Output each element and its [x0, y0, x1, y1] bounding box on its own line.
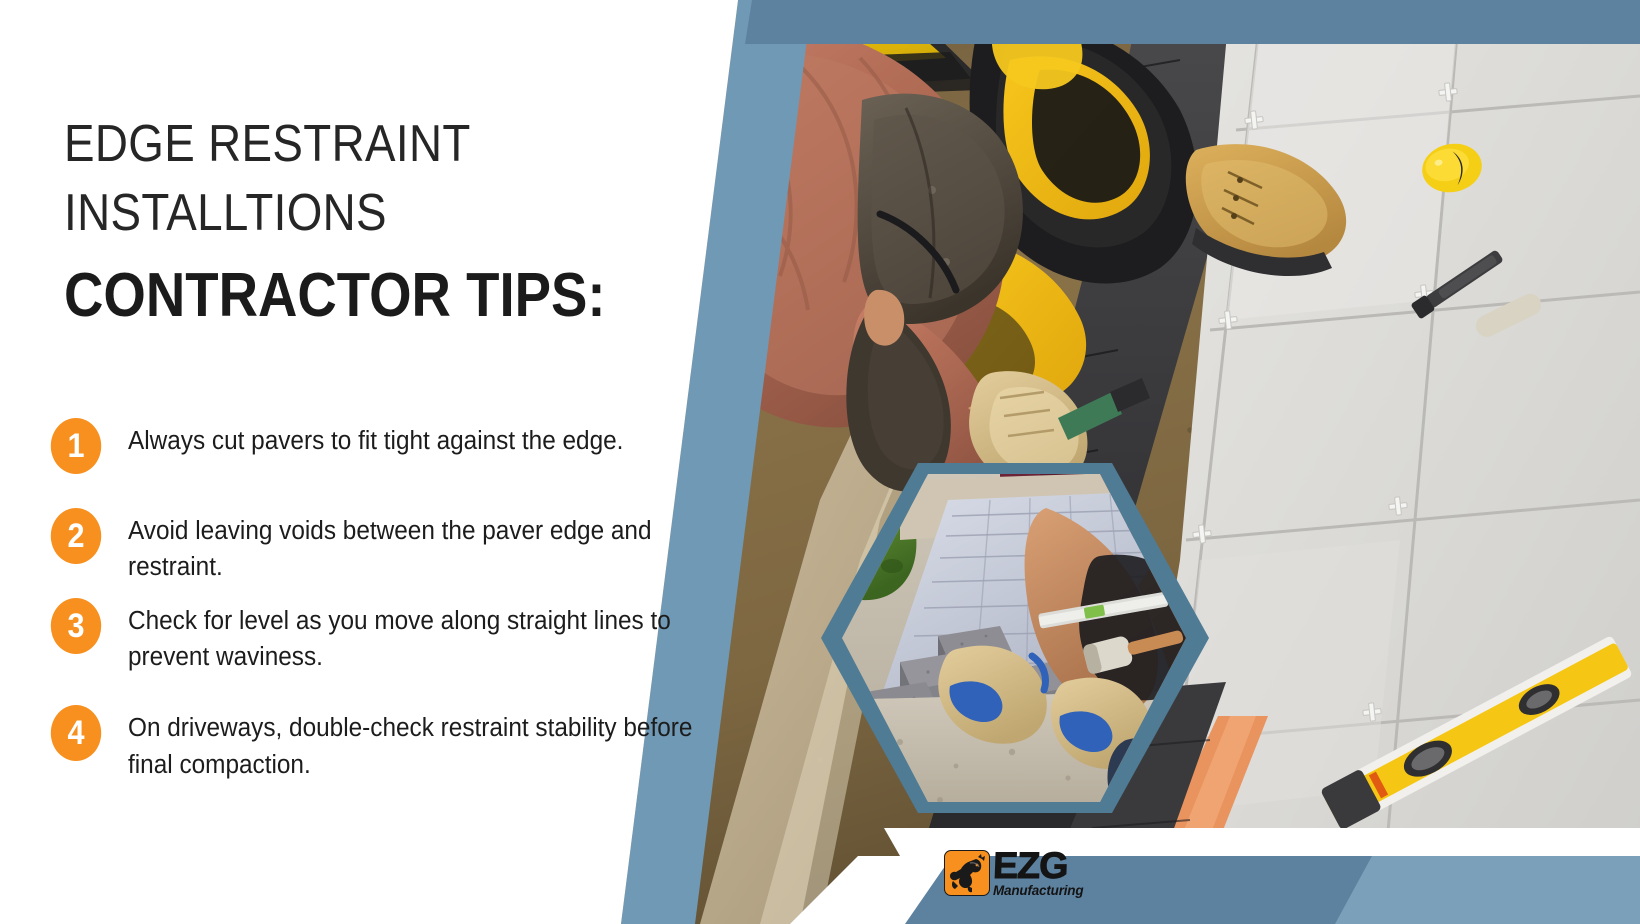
tip-badge-4: 4	[51, 705, 101, 761]
tip-item-2: 2 Avoid leaving voids between the paver …	[48, 508, 808, 568]
tip-item-3: 3 Check for level as you move along stra…	[48, 598, 808, 675]
tip-badge-1: 1	[51, 418, 101, 474]
title-line-2: INSTALLTIONS	[64, 179, 610, 248]
tip-item-4: 4 On driveways, double-check restraint s…	[48, 705, 808, 782]
page-subtitle: CONTRACTOR TIPS:	[64, 261, 610, 330]
bucking-mule-icon	[944, 850, 990, 896]
logo-wordmark: EZG Manufacturing	[993, 849, 1083, 898]
tip-text-4: On driveways, double-check restraint sta…	[128, 705, 739, 782]
title-line-1: EDGE RESTRAINT	[64, 110, 610, 179]
tip-text-2: Avoid leaving voids between the paver ed…	[128, 508, 739, 585]
tip-badge-3: 3	[51, 598, 101, 654]
top-blue-bar	[745, 0, 1640, 44]
tip-badge-2: 2	[51, 508, 101, 564]
tip-text-1: Always cut pavers to fit tight against t…	[128, 418, 623, 459]
tip-text-3: Check for level as you move along straig…	[128, 598, 739, 675]
tips-list: 1 Always cut pavers to fit tight against…	[48, 418, 808, 783]
tip-item-1: 1 Always cut pavers to fit tight against…	[48, 418, 808, 478]
infographic-canvas: EDGE RESTRAINT INSTALLTIONS CONTRACTOR T…	[0, 0, 1640, 924]
ezg-logo: EZG Manufacturing	[944, 846, 1083, 900]
bottom-right-blue-block	[1335, 856, 1640, 924]
logo-brand: EZG	[992, 849, 1085, 883]
left-text-column: EDGE RESTRAINT INSTALLTIONS CONTRACTOR T…	[0, 0, 700, 924]
title-block: EDGE RESTRAINT INSTALLTIONS CONTRACTOR T…	[64, 110, 684, 331]
